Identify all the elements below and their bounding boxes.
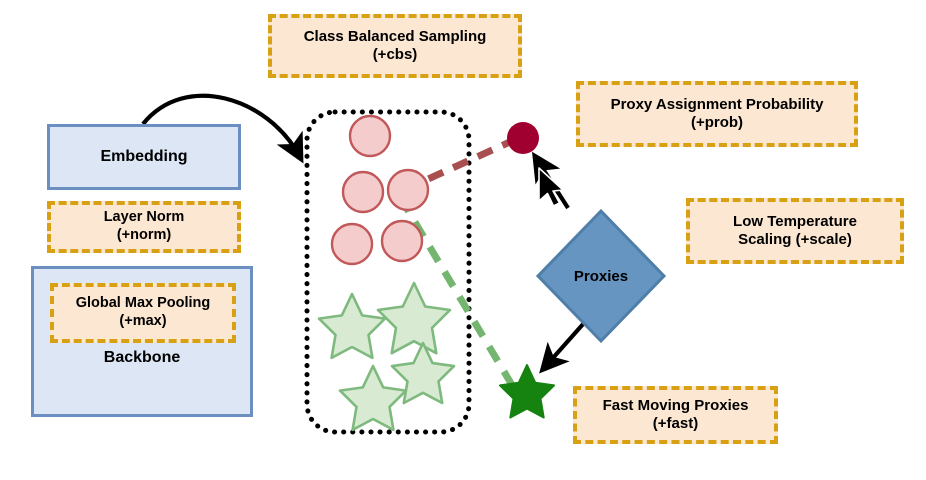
node-fast-moving-proxies[interactable]: Fast Moving Proxies (+fast) xyxy=(573,386,778,444)
sample-circle xyxy=(343,172,383,212)
node-embedding-label: Embedding xyxy=(100,147,187,167)
node-class-balanced-sampling[interactable]: Class Balanced Sampling (+cbs) xyxy=(268,14,522,78)
node-layer-norm[interactable]: Layer Norm (+norm) xyxy=(47,201,241,253)
sample-circle xyxy=(382,221,422,261)
node-layer-norm-label: Layer Norm (+norm) xyxy=(104,209,185,244)
proxies-label-wrap: Proxies xyxy=(538,211,664,341)
node-proxy-assignment-probability[interactable]: Proxy Assignment Probability (+prob) xyxy=(576,81,858,147)
node-global-max-pooling[interactable]: Global Max Pooling (+max) xyxy=(50,283,236,343)
mouse-cursor xyxy=(539,168,563,206)
sample-circle xyxy=(332,224,372,264)
node-backbone-label: Backbone xyxy=(104,348,180,368)
proxies-label: Proxies xyxy=(538,211,664,341)
sample-circle xyxy=(388,170,428,210)
node-proxy-assignment-probability-label: Proxy Assignment Probability (+prob) xyxy=(611,96,824,133)
node-global-max-pooling-label: Global Max Pooling (+max) xyxy=(76,295,211,330)
node-embedding[interactable]: Embedding xyxy=(47,124,241,190)
node-fast-moving-proxies-label: Fast Moving Proxies (+fast) xyxy=(603,397,749,434)
node-class-balanced-sampling-label: Class Balanced Sampling (+cbs) xyxy=(304,28,487,65)
sample-circle xyxy=(350,116,390,156)
proxy-point-circle xyxy=(507,122,539,154)
node-low-temperature-scaling-label: Low Temperature Scaling (+scale) xyxy=(733,213,857,250)
node-low-temperature-scaling[interactable]: Low Temperature Scaling (+scale) xyxy=(686,198,904,264)
